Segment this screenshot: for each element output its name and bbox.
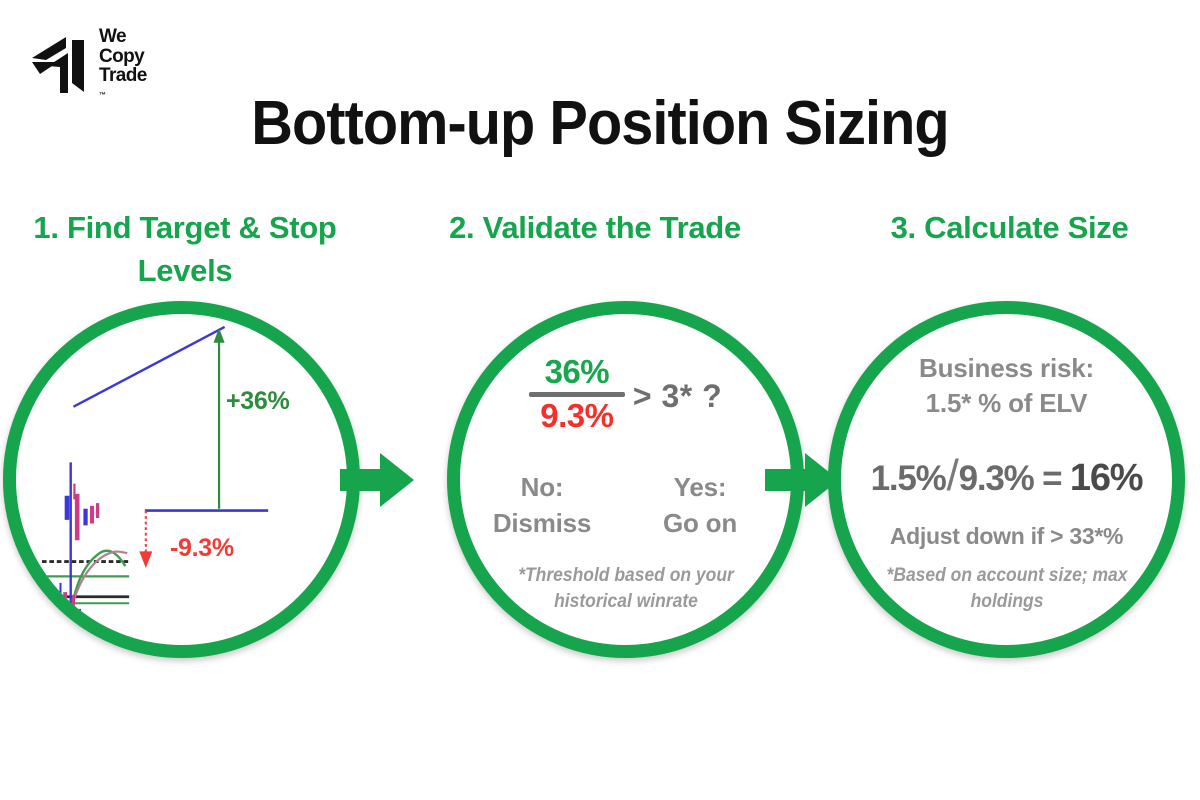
business-risk-line-2: 1.5* % of ELV — [828, 386, 1185, 421]
target-percent-label: +36% — [226, 387, 289, 416]
stop-percent-label: -9.3% — [170, 534, 234, 563]
fraction-denominator: 9.3% — [540, 398, 613, 434]
choice-no: No: Dismiss — [467, 469, 617, 541]
fraction-numerator: 36% — [545, 354, 610, 390]
target-arrow-head — [213, 328, 224, 343]
validation-formula: 36% 9.3% > 3* ? — [447, 354, 804, 434]
candlesticks — [35, 462, 98, 636]
formula-operand-b: 9.3% — [959, 459, 1034, 498]
choice-yes-label: Yes: — [625, 469, 775, 505]
logo-line-3-text: Trade — [99, 66, 147, 86]
flow-arrow-1-right-arrow-icon — [340, 449, 414, 511]
formula-result: 16% — [1070, 457, 1142, 499]
choice-yes-action: Go on — [625, 505, 775, 541]
step-3-footnote: *Based on account size; max holdings — [859, 563, 1155, 615]
step-2-content: 36% 9.3% > 3* ? No: Dismiss Yes: Go on *… — [447, 301, 804, 658]
logo-line-2: Copy — [99, 47, 147, 67]
logo-arrow-icon — [28, 36, 90, 94]
choice-no-action: Dismiss — [467, 505, 617, 541]
business-risk-line-1: Business risk: — [828, 351, 1185, 386]
choice-no-label: No: — [467, 469, 617, 505]
trendline — [73, 327, 224, 407]
step-1-circle — [3, 301, 360, 658]
flow-arrow-2-right-arrow-icon — [765, 449, 839, 511]
reward-risk-fraction: 36% 9.3% — [529, 354, 625, 434]
logo-line-1: We — [99, 27, 147, 47]
step-2-footnote: *Threshold based on your historical winr… — [478, 563, 774, 615]
step-1-chart-area — [16, 314, 347, 645]
infographic-canvas: We Copy Trade™ Bottom-up Position Sizing… — [0, 0, 1200, 800]
formula-slash: / — [946, 451, 959, 500]
step-3-content: Business risk: 1.5* % of ELV 1.5%/9.3% =… — [828, 301, 1185, 658]
step-1-heading: 1. Find Target & Stop Levels — [10, 206, 360, 292]
formula-operand-a: 1.5% — [871, 459, 946, 498]
formula-equals: = — [1042, 459, 1061, 498]
stop-arrow-head — [139, 551, 152, 568]
business-risk-block: Business risk: 1.5* % of ELV — [828, 351, 1185, 421]
page-title: Bottom-up Position Sizing — [42, 88, 1158, 159]
size-formula: 1.5%/9.3% = 16% — [824, 451, 1189, 501]
price-chart-graphic — [16, 314, 347, 645]
step-3-heading: 3. Calculate Size — [832, 206, 1187, 249]
fraction-comparison: > 3* ? — [633, 378, 722, 415]
adjust-note: Adjust down if > 33*% — [828, 523, 1185, 550]
step-2-heading: 2. Validate the Trade — [420, 206, 770, 249]
choice-yes: Yes: Go on — [625, 469, 775, 541]
